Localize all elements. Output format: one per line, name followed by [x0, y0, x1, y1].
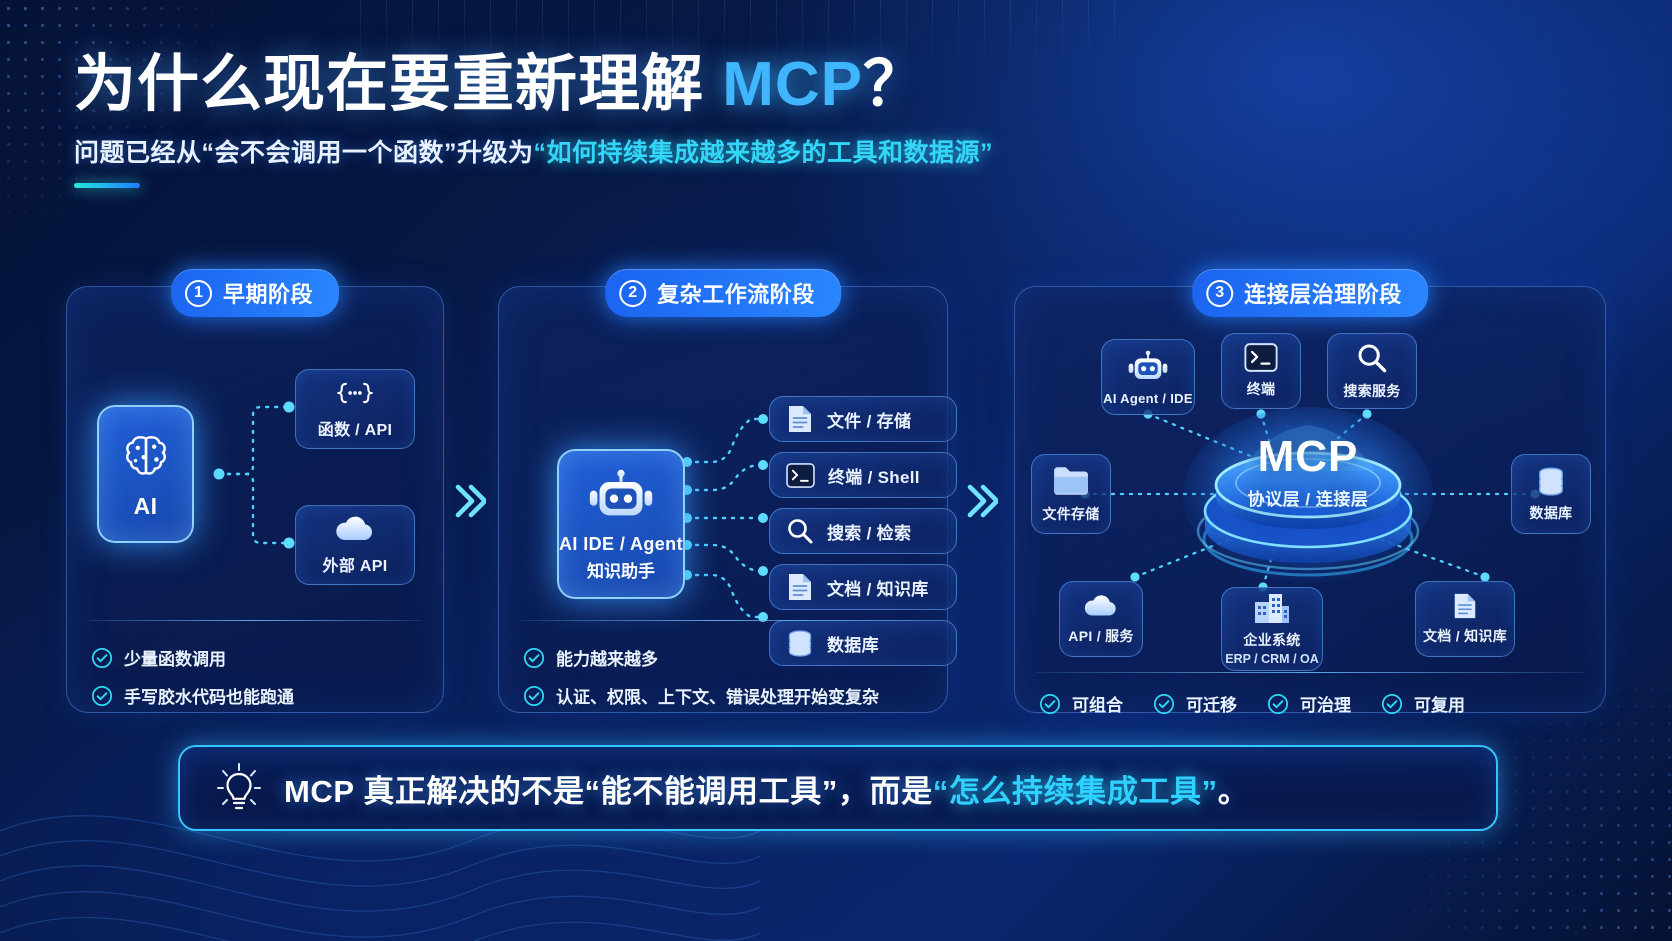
page-subtitle: 问题已经从“会不会调用一个函数”升级为“如何持续集成越来越多的工具和数据源”	[74, 133, 1394, 169]
folder-icon	[1052, 465, 1090, 497]
robot-icon	[586, 467, 656, 525]
summary-text-a: MCP 真正解决的不是“能不能调用工具”，而是	[284, 774, 933, 809]
summary-text-highlight: “怎么持续集成工具”	[933, 774, 1218, 809]
card-divider-2	[521, 620, 925, 621]
mcp-hub-title: MCP	[1183, 435, 1433, 479]
node-search-service-label: 搜索服务	[1343, 381, 1400, 401]
stage-arrow-1	[452, 478, 486, 524]
page-subtitle-part-b: “如何持续集成越来越多的工具和数据源”	[534, 139, 994, 167]
check-circle-icon	[1267, 693, 1289, 715]
check-item: 可组合	[1039, 691, 1123, 716]
document-icon	[786, 572, 814, 602]
hub-node-ai-label: AI	[134, 493, 158, 520]
check-circle-icon	[523, 685, 545, 707]
check-item: 可治理	[1267, 691, 1351, 716]
node-terminal-shell[interactable]: 终端 / Shell	[769, 452, 957, 498]
checks-list-3: 可组合 可迁移 可治理 可复	[1039, 691, 1589, 716]
building-icon	[1252, 592, 1292, 624]
page-title: 为什么现在要重新理解 MCP？	[74, 52, 1394, 117]
check-item: 认证、权限、上下文、错误处理开始变复杂	[523, 683, 931, 708]
document-icon	[1452, 592, 1478, 620]
hub-node-ai[interactable]: AI	[97, 405, 194, 543]
check-circle-icon	[91, 685, 113, 707]
check-item: 可迁移	[1153, 691, 1237, 716]
hub-node-ai-ide-agent[interactable]: AI IDE / Agent 知识助手	[557, 449, 685, 599]
checks-list-2: 能力越来越多 认证、权限、上下文、错误处理开始变复杂	[523, 645, 931, 721]
check-label: 可复用	[1414, 691, 1465, 716]
summary-banner-text: MCP 真正解决的不是“能不能调用工具”，而是“怎么持续集成工具”。	[284, 766, 1249, 811]
check-circle-icon	[523, 647, 545, 669]
check-label: 可迁移	[1186, 691, 1237, 716]
node-search-service[interactable]: 搜索服务	[1327, 333, 1417, 409]
search-icon	[1356, 342, 1388, 374]
stage-card-2: 2 复杂工作流阶段	[498, 286, 948, 713]
cloud-icon	[1082, 593, 1120, 619]
node-function-api[interactable]: 函数 / API	[295, 369, 415, 449]
page-header: 为什么现在要重新理解 MCP？ 问题已经从“会不会调用一个函数”升级为“如何持续…	[74, 52, 1394, 188]
node-terminal-shell-label: 终端 / Shell	[828, 463, 920, 488]
hub-node-ai-ide-agent-label: AI IDE / Agent	[559, 534, 683, 555]
file-icon	[786, 404, 814, 434]
node-docs-knowledge-label: 文档 / 知识库	[827, 575, 929, 600]
lightbulb-icon	[216, 762, 262, 814]
cloud-icon	[333, 514, 377, 544]
check-item: 能力越来越多	[523, 645, 931, 670]
check-circle-icon	[1039, 693, 1061, 715]
summary-text-c: 。	[1218, 774, 1250, 809]
robot-icon	[1126, 349, 1170, 385]
node-file-storage-label: 文件 / 存储	[827, 407, 911, 432]
brain-icon	[118, 428, 174, 484]
check-label: 少量函数调用	[124, 645, 226, 670]
summary-banner: MCP 真正解决的不是“能不能调用工具”，而是“怎么持续集成工具”。	[178, 745, 1498, 831]
check-circle-icon	[1153, 693, 1175, 715]
mcp-hub-text: MCP 协议层 / 连接层	[1183, 435, 1433, 510]
check-circle-icon	[1381, 693, 1403, 715]
node-docs-knowledge-3-label: 文档 / 知识库	[1423, 626, 1507, 646]
mcp-hub-disc[interactable]: MCP 协议层 / 连接层	[1183, 399, 1433, 589]
node-external-api[interactable]: 外部 API	[295, 505, 415, 585]
check-circle-icon	[91, 647, 113, 669]
checks-list-1: 少量函数调用 手写胶水代码也能跑通	[91, 645, 427, 721]
page-subtitle-part-a: 问题已经从“会不会调用一个函数”升级为	[74, 139, 534, 167]
node-external-api-label: 外部 API	[323, 552, 388, 576]
check-item: 可复用	[1381, 691, 1465, 716]
page-title-tail: ？	[863, 50, 926, 119]
page-title-main: 为什么现在要重新理解	[74, 50, 704, 119]
check-label: 认证、权限、上下文、错误处理开始变复杂	[556, 683, 879, 708]
node-terminal[interactable]: 终端	[1221, 333, 1301, 409]
node-file-storage[interactable]: 文件 / 存储	[769, 396, 957, 442]
node-terminal-label: 终端	[1247, 379, 1276, 399]
stage-cards: 1 早期阶段	[66, 268, 1606, 713]
node-file-store[interactable]: 文件存储	[1031, 454, 1111, 534]
check-label: 手写胶水代码也能跑通	[124, 683, 294, 708]
hub-node-ai-ide-agent-label2: 知识助手	[587, 557, 655, 582]
accent-bar	[74, 183, 140, 188]
page-title-highlight: MCP	[722, 50, 863, 119]
stage-card-1: 1 早期阶段	[66, 286, 444, 713]
node-enterprise-systems-label: 企业系统	[1243, 630, 1300, 650]
database-icon	[1536, 466, 1566, 496]
node-api-service-label: API / 服务	[1068, 626, 1133, 646]
node-ai-agent-ide-label: AI Agent / IDE	[1103, 391, 1193, 406]
stage-card-3: 3 连接层治理阶段	[1014, 286, 1606, 713]
search-icon	[786, 517, 814, 545]
node-enterprise-systems[interactable]: 企业系统 ERP / CRM / OA	[1221, 587, 1323, 671]
node-file-store-label: 文件存储	[1042, 504, 1099, 524]
stage-arrow-2	[964, 478, 998, 524]
card-divider-3	[1037, 672, 1583, 673]
code-braces-icon	[334, 378, 376, 408]
check-item: 少量函数调用	[91, 645, 427, 670]
node-enterprise-systems-sub: ERP / CRM / OA	[1225, 652, 1319, 666]
node-database-3-label: 数据库	[1530, 503, 1573, 523]
check-label: 能力越来越多	[556, 645, 658, 670]
check-item: 手写胶水代码也能跑通	[91, 683, 427, 708]
node-docs-knowledge[interactable]: 文档 / 知识库	[769, 564, 957, 610]
node-docs-knowledge-3[interactable]: 文档 / 知识库	[1415, 581, 1515, 657]
check-label: 可组合	[1072, 691, 1123, 716]
node-api-service[interactable]: API / 服务	[1059, 581, 1143, 657]
node-function-api-label: 函数 / API	[318, 416, 392, 440]
terminal-icon	[786, 463, 815, 488]
node-database-3[interactable]: 数据库	[1511, 454, 1591, 534]
node-search-retrieval[interactable]: 搜索 / 检索	[769, 508, 957, 554]
node-search-retrieval-label: 搜索 / 检索	[827, 519, 911, 544]
node-ai-agent-ide[interactable]: AI Agent / IDE	[1101, 339, 1195, 415]
card-divider-1	[89, 620, 421, 621]
mcp-hub-subtitle: 协议层 / 连接层	[1183, 485, 1433, 510]
check-label: 可治理	[1300, 691, 1351, 716]
terminal-icon	[1244, 343, 1278, 372]
